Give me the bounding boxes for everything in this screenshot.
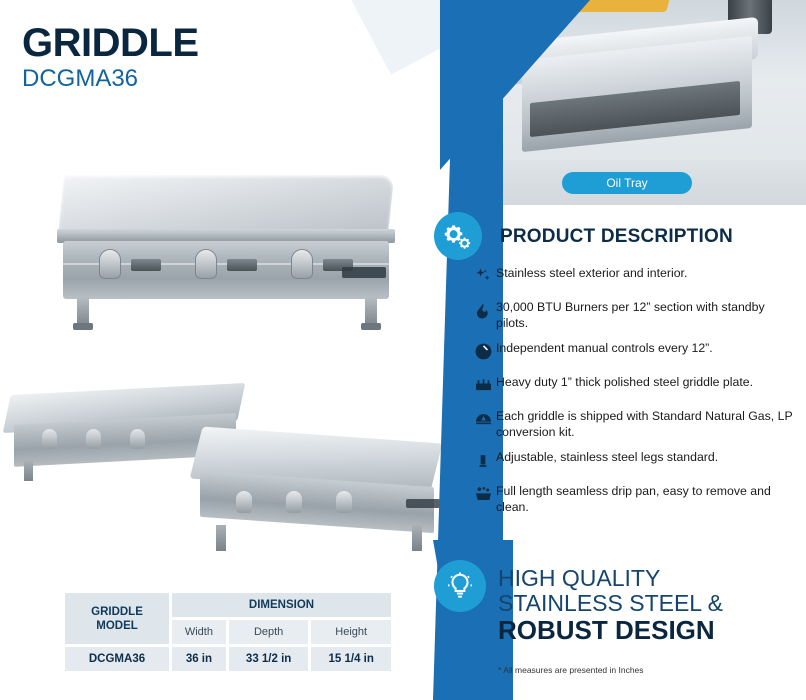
griddle-knob <box>286 491 302 513</box>
cell-depth: 33 1/2 in <box>229 647 309 671</box>
feature-text: 30,000 BTU Burners per 12” section with … <box>496 300 800 331</box>
sparkle-icon <box>470 266 496 290</box>
feature-text: Adjustable, stainless steel legs standar… <box>496 450 724 466</box>
list-item: Each griddle is shipped with Standard Na… <box>470 409 800 440</box>
model-subtitle: DCGMA36 <box>22 66 199 92</box>
table-header-dimension: DIMENSION <box>172 593 391 617</box>
feature-text: Heavy duty 1” thick polished steel gridd… <box>496 375 759 391</box>
griddle-plate-icon <box>470 375 496 399</box>
griddle-leg <box>24 459 33 481</box>
feature-text: Each griddle is shipped with Standard Na… <box>496 409 800 440</box>
gas-gauge-icon <box>470 409 496 433</box>
feature-text: Independent manual controls every 12”. <box>496 341 719 357</box>
table-subheader-height: Height <box>311 620 391 644</box>
knob-icon <box>470 341 496 365</box>
list-item: Stainless steel exterior and interior. <box>470 266 800 290</box>
griddle-knob <box>195 249 217 279</box>
table-header-model: GRIDDLE MODEL <box>65 593 169 644</box>
highlight-line-2: STAINLESS STEEL & <box>498 591 806 616</box>
cell-model: DCGMA36 <box>65 647 169 671</box>
griddle-knob <box>336 491 352 513</box>
feature-list: Stainless steel exterior and interior. 3… <box>470 266 800 525</box>
cell-width: 36 in <box>172 647 226 671</box>
model-header-line1: GRIDDLE <box>69 605 165 619</box>
griddle-leg <box>216 525 226 551</box>
list-item: Adjustable, stainless steel legs standar… <box>470 450 800 474</box>
leg-icon <box>470 450 496 474</box>
griddle-knob <box>291 249 313 279</box>
table-row: DCGMA36 36 in 33 1/2 in 15 1/4 in <box>65 647 391 671</box>
griddle-dial <box>227 259 257 271</box>
table-subheader-width: Width <box>172 620 226 644</box>
oil-tray-badge: Oil Tray <box>562 172 692 194</box>
model-header-line2: MODEL <box>69 619 165 633</box>
gears-icon <box>434 212 482 260</box>
drip-pan-icon <box>470 484 496 508</box>
table-row-header: GRIDDLE MODEL DIMENSION <box>65 593 391 617</box>
product-image-angled-griddles <box>8 375 448 565</box>
footnote: * All measures are presented in Inches <box>498 665 644 675</box>
dimension-table: GRIDDLE MODEL DIMENSION Width Depth Heig… <box>62 590 394 674</box>
brand-logo-plate <box>342 267 386 278</box>
product-description-heading: PRODUCT DESCRIPTION <box>500 226 733 248</box>
griddle-knob <box>42 429 57 449</box>
griddle-knob <box>86 429 101 449</box>
griddle-dial <box>131 259 161 271</box>
page-title: GRIDDLE <box>22 22 199 64</box>
table-subheader-depth: Depth <box>229 620 309 644</box>
product-image-main-griddle <box>55 175 400 335</box>
highlight-line-3: ROBUST DESIGN <box>498 616 806 645</box>
cell-height: 15 1/4 in <box>311 647 391 671</box>
hero-yellow-accent <box>576 0 673 12</box>
lightbulb-icon <box>434 560 486 612</box>
highlight-line-1: HIGH QUALITY <box>498 566 806 591</box>
page-root: GRIDDLE DCGMA36 <box>0 0 806 700</box>
griddle-foot <box>361 323 381 330</box>
list-item: Heavy duty 1” thick polished steel gridd… <box>470 375 800 399</box>
feature-text: Stainless steel exterior and interior. <box>496 266 693 282</box>
flame-icon <box>470 300 496 324</box>
griddle-foot <box>73 323 93 330</box>
griddle-plate <box>58 175 395 237</box>
griddle-leg <box>365 297 377 325</box>
griddle-knob <box>130 429 145 449</box>
griddle-leg <box>412 525 422 551</box>
highlight-text: HIGH QUALITY STAINLESS STEEL & ROBUST DE… <box>498 566 806 645</box>
list-item: 30,000 BTU Burners per 12” section with … <box>470 300 800 331</box>
feature-text: Full length seamless drip pan, easy to r… <box>496 484 800 515</box>
griddle-leg <box>77 297 89 325</box>
griddle-knob <box>99 249 121 279</box>
brand-logo-plate <box>406 499 440 508</box>
griddle-knob <box>236 491 252 513</box>
list-item: Full length seamless drip pan, easy to r… <box>470 484 800 515</box>
title-block: GRIDDLE DCGMA36 <box>22 22 199 92</box>
left-panel: GRIDDLE DCGMA36 <box>0 0 470 700</box>
list-item: Independent manual controls every 12”. <box>470 341 800 365</box>
